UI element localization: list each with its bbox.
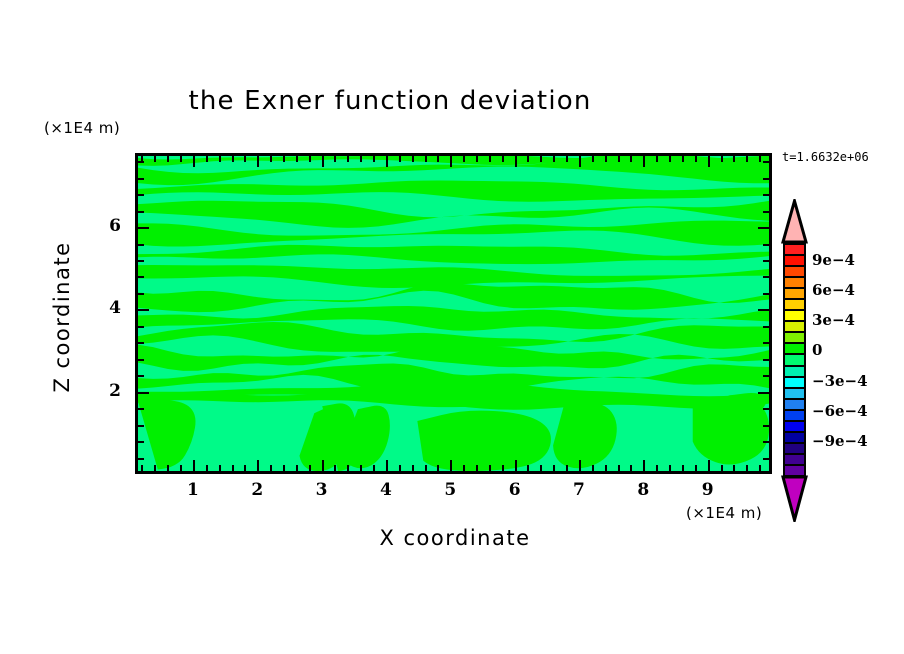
tick-mark xyxy=(579,155,581,167)
tick-mark xyxy=(244,155,246,162)
tick-mark xyxy=(618,465,620,472)
tick-mark xyxy=(566,465,568,472)
tick-mark xyxy=(137,458,144,460)
tick-mark xyxy=(763,244,770,246)
colorbar-tick-label: 3e−4 xyxy=(812,311,855,329)
tick-mark xyxy=(721,465,723,472)
contour-field xyxy=(138,156,769,471)
tick-mark xyxy=(193,155,195,167)
tick-mark xyxy=(347,155,349,162)
tick-mark xyxy=(322,460,324,472)
tick-mark xyxy=(412,465,414,472)
tick-mark xyxy=(270,155,272,162)
tick-mark xyxy=(515,460,517,472)
tick-mark xyxy=(721,155,723,162)
tick-mark xyxy=(296,465,298,472)
tick-mark xyxy=(219,465,221,472)
tick-mark xyxy=(605,155,607,162)
tick-mark xyxy=(643,460,645,472)
tick-mark xyxy=(206,465,208,472)
x-tick-label: 7 xyxy=(564,480,594,500)
z-axis-title: Z coordinate xyxy=(50,227,74,407)
tick-mark xyxy=(763,408,770,410)
tick-mark xyxy=(257,460,259,472)
tick-mark xyxy=(489,155,491,162)
tick-mark xyxy=(763,194,770,196)
timestamp-label: t=1.6632e+06 xyxy=(782,150,869,164)
tick-mark xyxy=(463,155,465,162)
tick-mark xyxy=(137,194,144,196)
tick-mark xyxy=(450,460,452,472)
x-tick-label: 2 xyxy=(242,480,272,500)
tick-mark xyxy=(137,359,144,361)
tick-mark xyxy=(360,155,362,162)
tick-mark xyxy=(758,227,770,229)
tick-mark xyxy=(232,155,234,162)
contour-band-high xyxy=(417,411,551,471)
tick-mark xyxy=(137,326,144,328)
tick-mark xyxy=(592,465,594,472)
tick-mark xyxy=(763,178,770,180)
x-tick-label: 8 xyxy=(628,480,658,500)
tick-mark xyxy=(137,293,144,295)
plot-area xyxy=(135,153,772,474)
tick-mark xyxy=(137,227,149,229)
tick-mark xyxy=(527,465,529,472)
tick-mark xyxy=(450,155,452,167)
tick-mark xyxy=(708,460,710,472)
tick-mark xyxy=(527,155,529,162)
tick-mark xyxy=(154,465,156,472)
tick-mark xyxy=(656,155,658,162)
tick-mark xyxy=(763,458,770,460)
x-tick-label: 4 xyxy=(371,480,401,500)
tick-mark xyxy=(733,155,735,162)
tick-mark xyxy=(399,465,401,472)
tick-mark xyxy=(643,155,645,167)
tick-mark xyxy=(232,465,234,472)
colorbar-bottom-arrow-icon xyxy=(779,474,810,522)
colorbar-tick-label: 0 xyxy=(812,341,822,359)
z-tick-label: 6 xyxy=(91,216,121,236)
tick-mark xyxy=(763,276,770,278)
tick-mark xyxy=(167,155,169,162)
colorbar-tick-label: −9e−4 xyxy=(812,432,868,450)
tick-mark xyxy=(137,309,149,311)
tick-mark xyxy=(386,460,388,472)
tick-mark xyxy=(758,309,770,311)
tick-mark xyxy=(137,260,144,262)
tick-mark xyxy=(425,465,427,472)
tick-mark xyxy=(137,441,144,443)
tick-mark xyxy=(759,155,761,162)
tick-mark xyxy=(746,465,748,472)
tick-mark xyxy=(746,155,748,162)
contour-plot-figure: the Exner function deviation (×1E4 m) (×… xyxy=(0,0,904,654)
tick-mark xyxy=(309,155,311,162)
tick-mark xyxy=(283,465,285,472)
tick-mark xyxy=(360,465,362,472)
tick-mark xyxy=(502,155,504,162)
tick-mark xyxy=(759,465,761,472)
tick-mark xyxy=(682,465,684,472)
z-tick-label: 4 xyxy=(91,298,121,318)
tick-mark xyxy=(763,161,770,163)
tick-mark xyxy=(618,155,620,162)
tick-mark xyxy=(137,342,144,344)
tick-mark xyxy=(566,155,568,162)
tick-mark xyxy=(412,155,414,162)
tick-mark xyxy=(296,155,298,162)
tick-mark xyxy=(758,392,770,394)
colorbar-tick-label: −3e−4 xyxy=(812,372,868,390)
tick-mark xyxy=(386,155,388,167)
colorbar-top-arrow-icon xyxy=(779,199,810,244)
tick-mark xyxy=(515,155,517,167)
tick-mark xyxy=(206,155,208,162)
x-axis-unit-label: (×1E4 m) xyxy=(686,504,762,522)
tick-mark xyxy=(270,465,272,472)
tick-mark xyxy=(137,178,144,180)
tick-mark xyxy=(669,465,671,472)
tick-mark xyxy=(695,155,697,162)
tick-mark xyxy=(553,155,555,162)
tick-mark xyxy=(763,326,770,328)
tick-mark xyxy=(425,155,427,162)
tick-mark xyxy=(137,276,144,278)
tick-mark xyxy=(399,155,401,162)
tick-mark xyxy=(763,293,770,295)
tick-mark xyxy=(630,465,632,472)
tick-mark xyxy=(137,408,144,410)
tick-mark xyxy=(540,155,542,162)
tick-mark xyxy=(763,342,770,344)
colorbar-tick-label: −6e−4 xyxy=(812,402,868,420)
tick-mark xyxy=(347,465,349,472)
x-axis-title: X coordinate xyxy=(277,526,633,550)
tick-mark xyxy=(463,465,465,472)
tick-mark xyxy=(137,161,144,163)
tick-mark xyxy=(244,465,246,472)
tick-mark xyxy=(137,211,144,213)
colorbar-tick-label: 6e−4 xyxy=(812,281,855,299)
tick-mark xyxy=(763,211,770,213)
tick-mark xyxy=(763,441,770,443)
tick-mark xyxy=(605,465,607,472)
tick-mark xyxy=(630,155,632,162)
x-tick-label: 5 xyxy=(435,480,465,500)
tick-mark xyxy=(708,155,710,167)
tick-mark xyxy=(682,155,684,162)
tick-mark xyxy=(334,155,336,162)
x-tick-label: 9 xyxy=(693,480,723,500)
tick-mark xyxy=(695,465,697,472)
tick-mark xyxy=(553,465,555,472)
tick-mark xyxy=(137,392,149,394)
x-tick-label: 1 xyxy=(178,480,208,500)
colorbar xyxy=(783,243,806,475)
tick-mark xyxy=(592,155,594,162)
tick-mark xyxy=(141,465,143,472)
z-axis-unit-label: (×1E4 m) xyxy=(44,119,120,137)
tick-mark xyxy=(373,465,375,472)
tick-mark xyxy=(763,359,770,361)
tick-mark xyxy=(763,375,770,377)
tick-mark xyxy=(193,460,195,472)
tick-mark xyxy=(283,155,285,162)
tick-mark xyxy=(137,244,144,246)
tick-mark xyxy=(257,155,259,167)
tick-mark xyxy=(373,155,375,162)
tick-mark xyxy=(579,460,581,472)
tick-mark xyxy=(180,155,182,162)
tick-mark xyxy=(334,465,336,472)
x-tick-label: 3 xyxy=(307,480,337,500)
tick-mark xyxy=(137,425,144,427)
tick-mark xyxy=(309,465,311,472)
tick-mark xyxy=(540,465,542,472)
tick-mark xyxy=(437,465,439,472)
tick-mark xyxy=(502,465,504,472)
tick-mark xyxy=(154,155,156,162)
tick-mark xyxy=(656,465,658,472)
tick-mark xyxy=(489,465,491,472)
x-tick-label: 6 xyxy=(500,480,530,500)
colorbar-tick-label: 9e−4 xyxy=(812,251,855,269)
tick-mark xyxy=(180,465,182,472)
tick-mark xyxy=(733,465,735,472)
tick-mark xyxy=(437,155,439,162)
tick-mark xyxy=(763,260,770,262)
tick-mark xyxy=(167,465,169,472)
tick-mark xyxy=(476,155,478,162)
tick-mark xyxy=(137,375,144,377)
tick-mark xyxy=(476,465,478,472)
tick-mark xyxy=(763,425,770,427)
tick-mark xyxy=(219,155,221,162)
page-title: the Exner function deviation xyxy=(0,86,780,116)
z-tick-label: 2 xyxy=(91,381,121,401)
tick-mark xyxy=(322,155,324,167)
tick-mark xyxy=(669,155,671,162)
